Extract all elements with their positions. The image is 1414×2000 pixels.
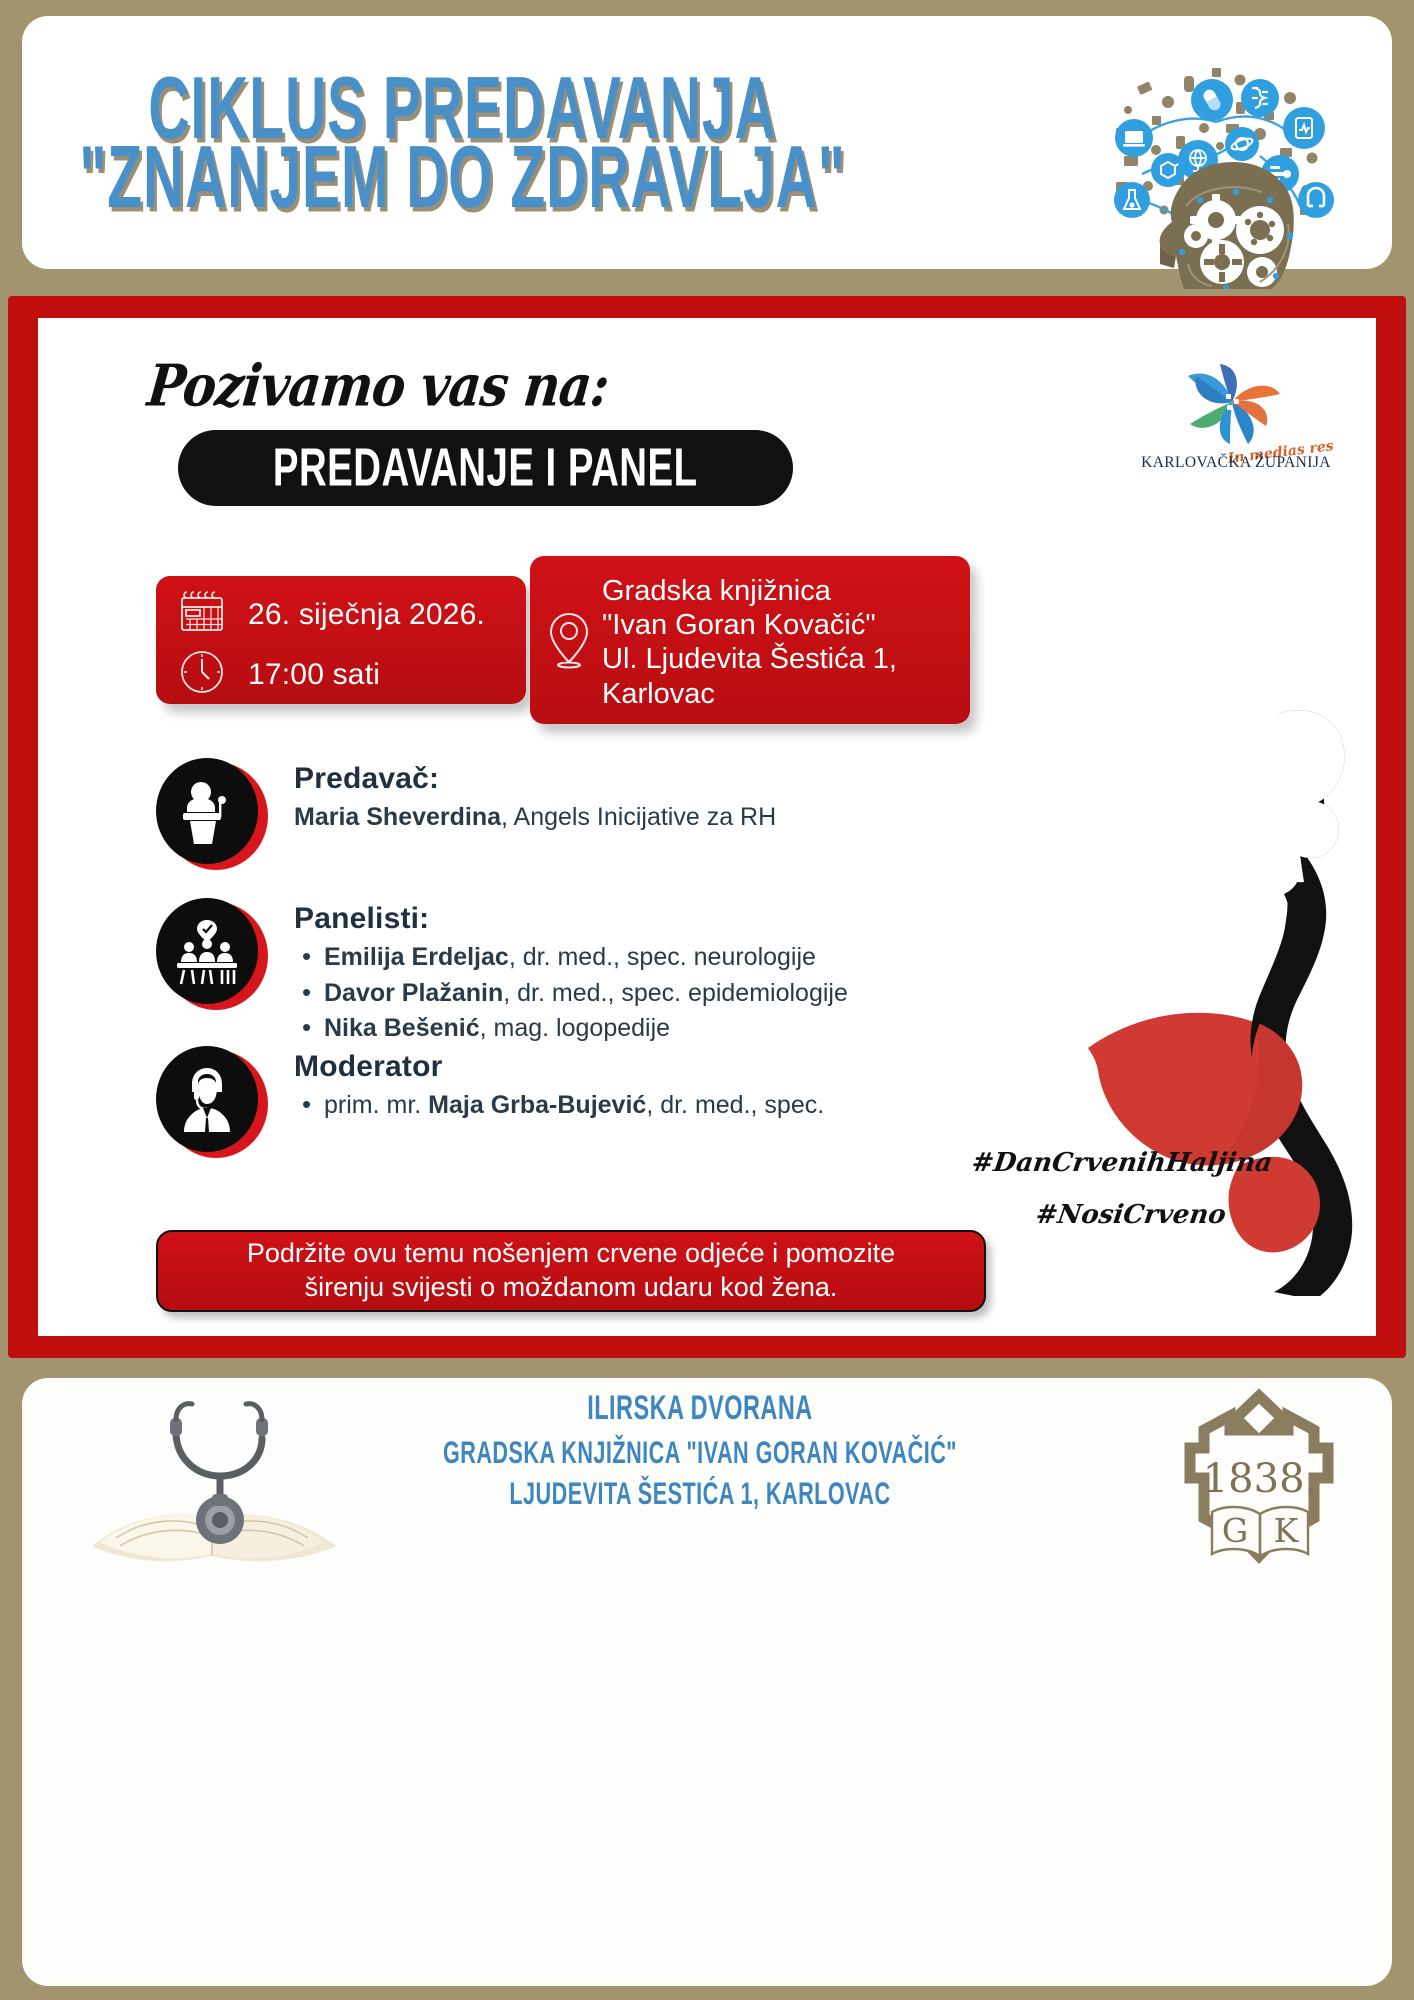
moderator-row: Moderator prim. mr. Maja Grba-Bujević, d… <box>156 1046 824 1158</box>
panelists-role: Panelisti: <box>294 902 848 936</box>
main-red-frame: Pozivamo vas na: PREDAVANJE I PANEL <box>8 296 1406 1358</box>
list-item: Davor Plažanin, dr. med., spec. epidemio… <box>294 976 848 1012</box>
location-box: Gradska knjižnica "Ivan Goran Kovačić" U… <box>530 556 970 724</box>
county-name: KARLOVAČKA ŽUPANIJA <box>1136 454 1336 472</box>
event-time: 17:00 sati <box>248 658 380 692</box>
panelist-name: Nika Bešenić <box>324 1014 480 1042</box>
calendar-icon <box>178 590 226 639</box>
panelists-list: Emilija Erdeljac, dr. med., spec. neurol… <box>294 940 848 1047</box>
clock-icon <box>178 648 226 701</box>
hashtag-nosi-crveno: #NosiCrveno <box>1034 1200 1228 1230</box>
footer-line-1: ILIRSKA DVORANA <box>352 1388 1048 1428</box>
event-date: 26. siječnja 2026. <box>248 598 485 632</box>
panelist-name: Emilija Erdeljac <box>324 943 509 971</box>
header-card: CIKLUS PREDAVANJA "ZNANJEM DO ZDRAVLJA" <box>22 16 1392 269</box>
panelist-detail: , mag. logopedije <box>480 1014 670 1042</box>
hashtag-dan-crvenih-haljina: #DanCrvenihHaljina <box>970 1148 1274 1178</box>
date-time-box: 26. siječnja 2026. 17:00 sati <box>156 576 526 704</box>
county-logo: In medias res KARLOVAČKA ŽUPANIJA <box>1136 354 1336 472</box>
brain-head-science-icons-icon <box>1064 24 1364 289</box>
speaker-role: Predavač: <box>294 762 776 796</box>
gk-logo-initial-k: K <box>1274 1511 1300 1550</box>
moderator-role: Moderator <box>294 1050 824 1084</box>
location-line-3: Ul. Ljudevita Šestića 1, <box>602 642 962 676</box>
panel-table-icon <box>156 898 268 1010</box>
speaker-line: Maria Sheverdina, Angels Inicijative za … <box>294 800 776 835</box>
location-line-4: Karlovac <box>602 677 962 711</box>
location-line-1: Gradska knjižnica <box>602 574 962 608</box>
moderator-list: prim. mr. Maja Grba-Bujević, dr. med., s… <box>294 1088 824 1124</box>
gk-logo-initial-g: G <box>1222 1511 1248 1550</box>
moderator-prefix: prim. mr. <box>324 1091 428 1119</box>
headset-person-icon <box>156 1046 268 1158</box>
location-line-2: "Ivan Goran Kovačić" <box>602 608 962 642</box>
event-type-label: PREDAVANJE I PANEL <box>273 438 698 499</box>
map-pin-icon <box>546 608 592 675</box>
cta-line-2: širenju svijesti o moždanom udaru kod že… <box>247 1271 895 1305</box>
speaker-row: Predavač: Maria Sheverdina, Angels Inici… <box>156 758 776 870</box>
main-content-card: Pozivamo vas na: PREDAVANJE I PANEL <box>38 318 1376 1336</box>
lectern-speaker-icon <box>156 758 268 870</box>
list-item: prim. mr. Maja Grba-Bujević, dr. med., s… <box>294 1088 824 1124</box>
title-line-2: "ZNANJEM DO ZDRAVLJA" <box>79 138 845 222</box>
list-item: Nika Bešenić, mag. logopedije <box>294 1011 848 1047</box>
list-item: Emilija Erdeljac, dr. med., spec. neurol… <box>294 940 848 976</box>
gk-fortress-book-logo-icon: 1838. G K <box>1164 1386 1354 1586</box>
moderator-detail: , dr. med., spec. <box>646 1091 824 1119</box>
panelist-detail: , dr. med., spec. neurologije <box>509 943 816 971</box>
event-type-banner: PREDAVANJE I PANEL <box>178 430 793 506</box>
moderator-name: Maja Grba-Bujević <box>428 1091 646 1119</box>
invitation-text: Pozivamo vas na: <box>144 352 611 420</box>
gk-logo-year: 1838. <box>1203 1456 1318 1502</box>
cta-line-1: Podržite ovu temu nošenjem crvene odjeće… <box>247 1237 895 1271</box>
footer-line-3: LJUDEVITA ŠESTIĆA 1, KARLOVAC <box>352 1475 1048 1512</box>
footer-line-2: GRADSKA KNJIŽNICA "IVAN GORAN KOVAČIĆ" <box>352 1434 1048 1471</box>
page-title: CIKLUS PREDAVANJA "ZNANJEM DO ZDRAVLJA" <box>82 40 842 250</box>
call-to-action-box: Podržite ovu temu nošenjem crvene odjeće… <box>156 1230 986 1312</box>
open-book-stethoscope-icon <box>80 1396 350 1596</box>
panelists-row: Panelisti: Emilija Erdeljac, dr. med., s… <box>156 898 848 1047</box>
speaker-affiliation: , Angels Inicijative za RH <box>501 803 776 831</box>
footer-text: ILIRSKA DVORANA GRADSKA KNJIŽNICA "IVAN … <box>330 1394 1070 1507</box>
panelist-detail: , dr. med., spec. epidemiologije <box>503 979 848 1007</box>
speaker-name: Maria Sheverdina <box>294 803 501 831</box>
panelist-name: Davor Plažanin <box>324 979 503 1007</box>
